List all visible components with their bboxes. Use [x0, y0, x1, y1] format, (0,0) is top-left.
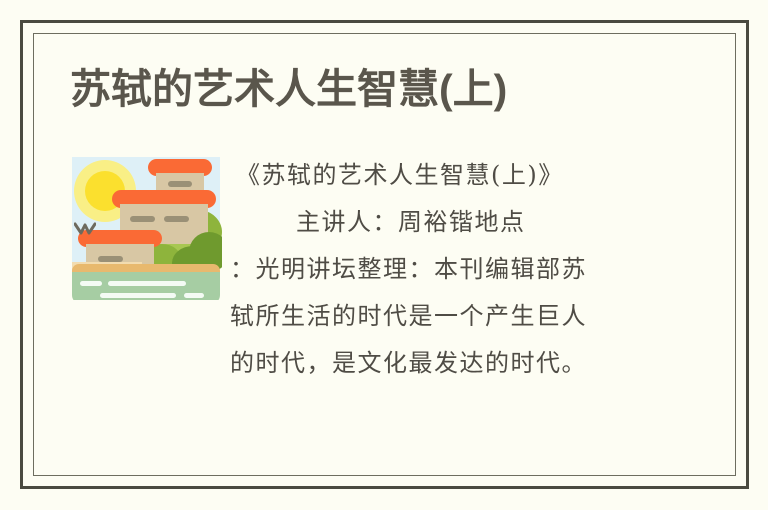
bird-icon: [74, 222, 96, 238]
body-line: 轼所生活的时代是一个产生巨人: [230, 293, 719, 340]
page-title: 苏轼的艺术人生智慧(上): [70, 66, 507, 113]
decorative-inner-frame: 苏轼的艺术人生智慧(上): [33, 33, 736, 476]
caption-line: [184, 293, 204, 298]
body-line: 主讲人：周裕锴地点: [230, 199, 719, 246]
body-line: 的时代，是文化最发达的时代。: [230, 340, 719, 387]
window-icon: [130, 216, 155, 222]
body-line: ：光明讲坛整理：本刊编辑部苏: [230, 246, 719, 293]
caption-line: [100, 293, 176, 298]
article-card: 苏轼的艺术人生智慧(上): [20, 20, 749, 489]
caption-line: [108, 281, 186, 286]
article-content-row: 《苏轼的艺术人生智慧(上)》 主讲人：周裕锴地点 ：光明讲坛整理：本刊编辑部苏 …: [64, 152, 719, 387]
window-icon: [168, 181, 192, 187]
caption-line: [80, 281, 102, 286]
article-body: 《苏轼的艺术人生智慧(上)》 主讲人：周裕锴地点 ：光明讲坛整理：本刊编辑部苏 …: [222, 152, 719, 387]
article-thumbnail[interactable]: [64, 152, 222, 300]
body-line: 《苏轼的艺术人生智慧(上)》: [230, 152, 719, 199]
window-icon: [164, 216, 189, 222]
